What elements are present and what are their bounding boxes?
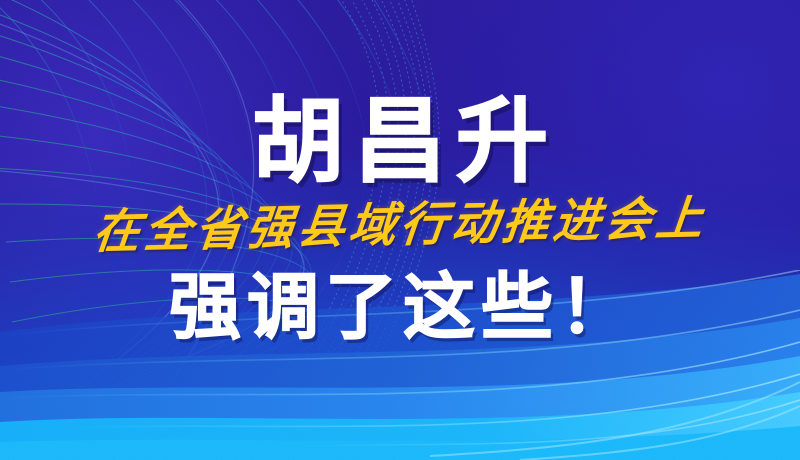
- news-banner: 胡昌升 在全省强县域行动推进会上 强调了这些！ 胡昌升在全省强县域行动推进会上强…: [0, 0, 800, 460]
- page-title-name: 胡昌升: [242, 96, 558, 188]
- subtitle-calligraphy: 在全省强县域行动推进会上: [91, 195, 709, 256]
- headline-emphasis: 强调了这些！: [163, 271, 637, 343]
- headline-group: 胡昌升 在全省强县域行动推进会上 强调了这些！: [0, 0, 800, 460]
